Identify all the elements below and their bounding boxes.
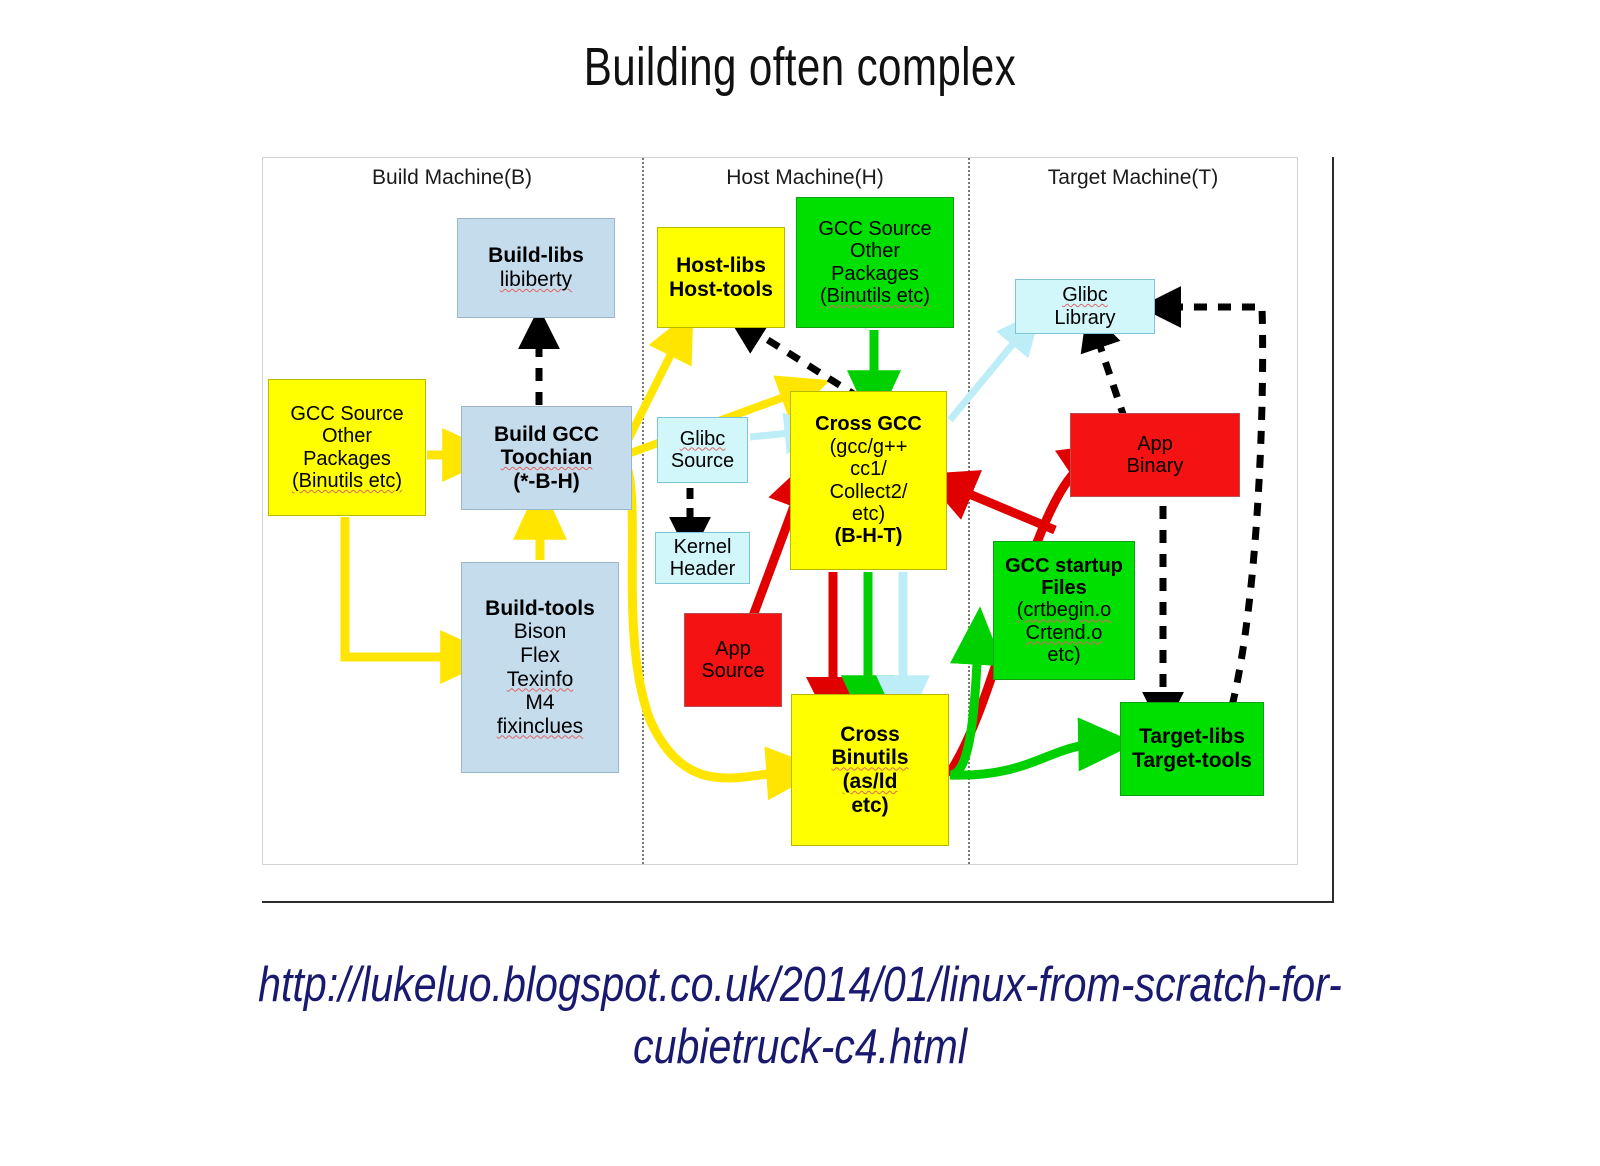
slide-canvas: Building often complex Build Machine(B) …: [0, 0, 1600, 1166]
node-line: M4: [525, 691, 554, 715]
node-line: Header: [670, 558, 736, 580]
column-heading-build: Build Machine(B): [262, 166, 642, 190]
node-build-libs[interactable]: Build-libs libiberty: [457, 218, 615, 318]
node-line: Build-libs: [488, 244, 584, 268]
node-line: Bison: [514, 620, 567, 644]
node-line: (as/ld: [843, 770, 898, 794]
node-gcc-source-host[interactable]: GCC Source Other Packages (Binutils etc): [796, 197, 954, 328]
node-line: Packages: [303, 448, 391, 470]
node-line: Binutils: [832, 746, 909, 770]
node-line: Other: [322, 425, 372, 447]
node-line: Host-libs: [676, 254, 766, 278]
node-line: libiberty: [500, 268, 572, 292]
node-line: Flex: [520, 644, 560, 668]
node-line: (gcc/g++: [830, 436, 908, 458]
node-gcc-source-build[interactable]: GCC Source Other Packages (Binutils etc): [268, 379, 426, 516]
node-line: etc): [1047, 644, 1080, 666]
node-line: App: [1137, 433, 1173, 455]
node-line: (Binutils etc): [820, 285, 930, 307]
node-line: Other: [850, 240, 900, 262]
node-line: Glibc: [1062, 284, 1108, 306]
node-line: Packages: [831, 263, 919, 285]
node-line: Target-tools: [1132, 749, 1252, 773]
node-glibc-library[interactable]: Glibc Library: [1015, 279, 1155, 334]
node-line: (*-B-H): [513, 470, 579, 494]
node-line: Collect2/: [830, 481, 908, 503]
node-line: etc): [852, 503, 885, 525]
node-line: Source: [701, 660, 764, 682]
node-line: Build-tools: [485, 597, 595, 621]
node-line: Kernel: [674, 536, 732, 558]
node-build-gcc-toolchain[interactable]: Build GCC Toochian (*-B-H): [461, 406, 632, 510]
source-url-line2: cubietruck-c4.html: [128, 1017, 1472, 1079]
page-title: Building often complex: [176, 36, 1424, 98]
node-app-binary[interactable]: App Binary: [1070, 413, 1240, 497]
node-line: GCC Source: [290, 403, 403, 425]
node-line: (B-H-T): [835, 525, 903, 547]
column-divider-build-host: [642, 158, 644, 864]
node-line: Host-tools: [669, 278, 773, 302]
node-cross-gcc[interactable]: Cross GCC (gcc/g++ cc1/ Collect2/ etc) (…: [790, 391, 947, 570]
source-url-line1: http://lukeluo.blogspot.co.uk/2014/01/li…: [258, 958, 1342, 1012]
node-line: (Binutils etc): [292, 470, 402, 492]
node-line: GCC Source: [818, 218, 931, 240]
node-line: Binary: [1127, 455, 1184, 477]
node-host-libs-tools[interactable]: Host-libs Host-tools: [657, 227, 785, 328]
node-line: Toochian: [501, 446, 593, 470]
node-line: etc): [851, 794, 888, 818]
source-url[interactable]: http://lukeluo.blogspot.co.uk/2014/01/li…: [128, 955, 1472, 1078]
node-line: Cross GCC: [815, 413, 922, 435]
node-line: (crtbegin.o: [1017, 599, 1112, 621]
node-line: GCC startup: [1005, 555, 1123, 577]
column-divider-host-target: [968, 158, 970, 864]
node-app-source[interactable]: App Source: [684, 613, 782, 707]
node-target-libs-tools[interactable]: Target-libs Target-tools: [1120, 702, 1264, 796]
node-line: cc1/: [850, 458, 887, 480]
column-heading-target: Target Machine(T): [968, 166, 1298, 190]
node-build-tools[interactable]: Build-tools Bison Flex Texinfo M4 fixinc…: [461, 562, 619, 773]
node-line: fixinclues: [497, 715, 583, 739]
node-line: Source: [671, 450, 734, 472]
node-line: Build GCC: [494, 423, 599, 447]
node-line: Library: [1054, 307, 1115, 329]
node-kernel-header[interactable]: Kernel Header: [655, 532, 750, 584]
column-heading-host: Host Machine(H): [642, 166, 968, 190]
node-line: Crtend.o: [1026, 622, 1103, 644]
node-line: App: [715, 638, 751, 660]
node-line: Cross: [840, 723, 900, 747]
node-line: Glibc: [680, 428, 726, 450]
node-line: Texinfo: [507, 668, 574, 692]
node-line: Files: [1041, 577, 1087, 599]
node-glibc-source[interactable]: Glibc Source: [657, 417, 748, 483]
node-cross-binutils[interactable]: Cross Binutils (as/ld etc): [791, 694, 949, 846]
node-gcc-startup-files[interactable]: GCC startup Files (crtbegin.o Crtend.o e…: [993, 541, 1135, 680]
node-line: Target-libs: [1139, 725, 1245, 749]
